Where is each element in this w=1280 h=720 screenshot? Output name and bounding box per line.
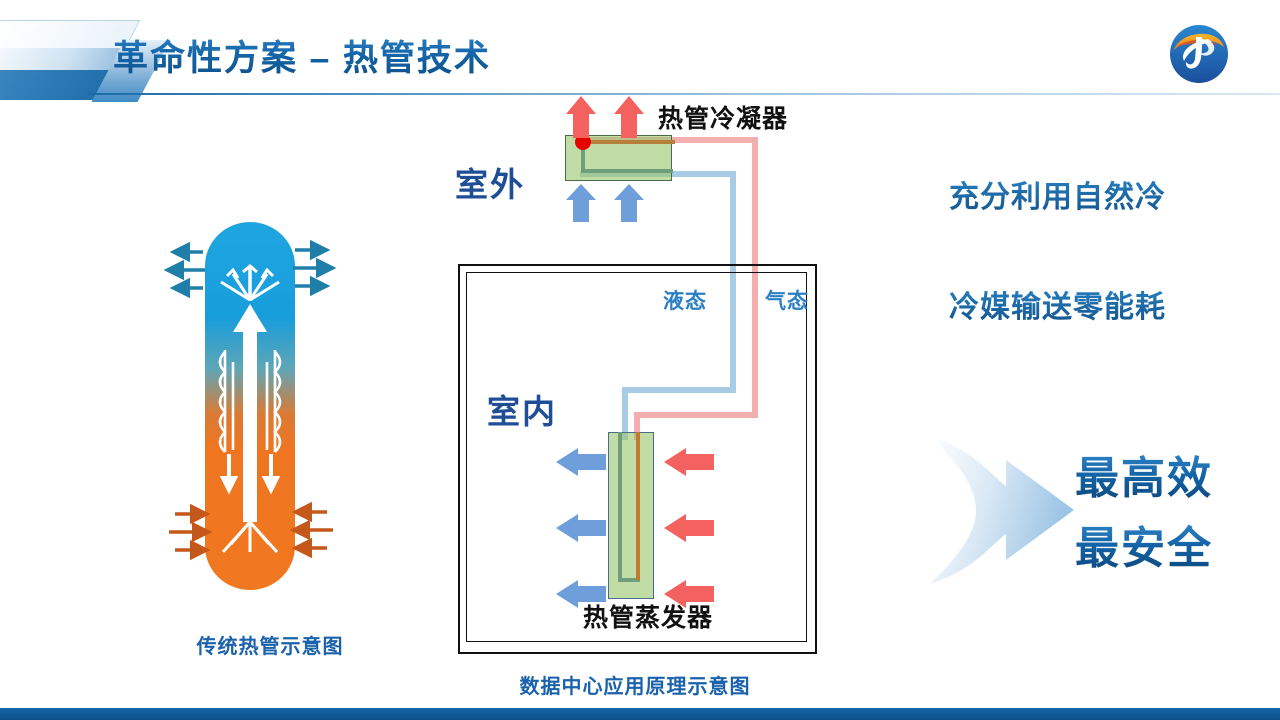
- condenser-label: 热管冷凝器: [658, 99, 788, 135]
- condensation-spray-top: [221, 266, 279, 300]
- hot-arrows-right: [293, 512, 333, 548]
- conclusion-text-1: 最高效: [1075, 442, 1213, 506]
- benefit-text-2: 冷媒输送零能耗: [949, 282, 1166, 326]
- cold-arrows-right: [293, 250, 333, 286]
- left-diagram-caption: 传统热管示意图: [130, 630, 410, 659]
- condenser-cold-air-in: [565, 182, 675, 222]
- center-diagram-caption: 数据中心应用原理示意图: [455, 670, 815, 699]
- cold-arrows-left: [167, 252, 205, 288]
- slide-header: 革命性方案 – 热管技术 革命性方案 – 热管技术: [0, 0, 1280, 96]
- condenser-liquid-line: [583, 145, 673, 171]
- company-logo: [1168, 23, 1230, 85]
- evaporator-internals: [606, 430, 666, 610]
- outdoor-label: 室外: [455, 158, 525, 206]
- hot-arrows-left: [169, 514, 209, 550]
- conclusion-text-2: 最安全: [1075, 512, 1213, 576]
- evaporator-label: 热管蒸发器: [583, 598, 713, 634]
- footer-bar: [0, 708, 1280, 720]
- vapour-flow-arrow: [233, 304, 267, 522]
- evaporation-spray-bottom: [223, 522, 277, 552]
- benefit-text-1: 充分利用自然冷: [949, 172, 1166, 216]
- right-chevron-arrow: [928, 430, 1078, 590]
- liquid-state-label: 液态: [663, 285, 707, 315]
- indoor-label: 室内: [487, 385, 557, 433]
- traditional-heat-pipe-diagram: [155, 222, 370, 602]
- page-title: 革命性方案 – 热管技术: [113, 30, 491, 81]
- evaporator-u-pipe-liquid: [620, 432, 638, 580]
- slide-root: 革命性方案 – 热管技术 革命性方案 – 热管技术: [0, 0, 1280, 720]
- gas-state-label: 气态: [765, 285, 809, 315]
